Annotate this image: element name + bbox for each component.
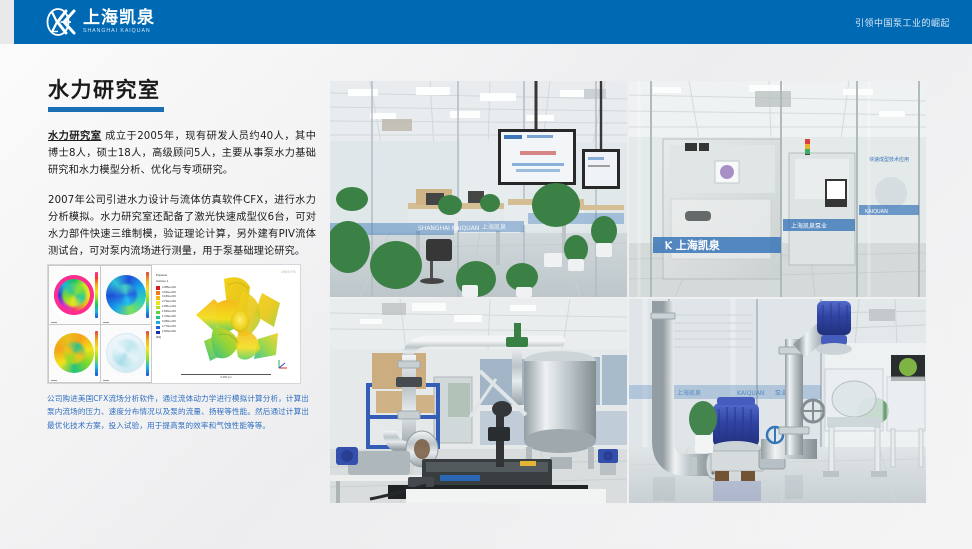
brand-logo[interactable]: 上海凯泉 SHANGHAI KAIQUAN	[44, 6, 155, 38]
paragraph-lead-term: 水力研究室	[48, 131, 101, 142]
cfd-contour-panel-1	[49, 266, 100, 324]
impeller-streamlines	[106, 333, 146, 373]
brand-name-en: SHANGHAI KAIQUAN	[83, 29, 159, 34]
axis-tick-4	[103, 380, 109, 381]
brand-name-cn: 上海凯泉	[83, 10, 155, 27]
scale-bar-line	[181, 374, 271, 375]
paragraph-intro: 水力研究室 成立于2005年，现有研发人员约40人，其中博士8人，硕士18人，高…	[48, 128, 316, 179]
colorbar-4	[146, 331, 149, 377]
title-underline-rule	[48, 107, 164, 112]
cfd-contour-panel-3	[49, 325, 100, 383]
impeller-contour-total-pressure	[54, 333, 94, 373]
header-left-edge	[0, 0, 14, 44]
cfd-analysis-figure: Pressure Contour 1 4.085e+004 3.634e+004…	[47, 264, 301, 384]
header-tagline: 引领中国泵工业的崛起	[855, 0, 950, 44]
cfd-contour-panel-2	[101, 266, 152, 324]
slide-canvas: 上海凯泉 SHANGHAI KAIQUAN 引领中国泵工业的崛起 水力研究室 水…	[0, 0, 972, 549]
axis-tick-2	[103, 322, 109, 323]
page-header: 上海凯泉 SHANGHAI KAIQUAN 引领中国泵工业的崛起	[0, 0, 972, 44]
impeller-contour-pressure	[54, 275, 94, 315]
cfd-contour-panels	[48, 265, 152, 383]
scale-label: 0.400 (m)	[220, 376, 231, 379]
photo-research-office: 凯泉 SHANGHAI KAIQUAN 上海凯泉	[330, 81, 627, 297]
cfd-legend-title: Pressure	[156, 273, 182, 278]
colorbar-2	[146, 272, 149, 318]
axis-triad-icon	[276, 357, 290, 371]
cfd-legend-unit: [Pa]	[156, 335, 182, 340]
paragraph-software: 2007年公司引进水力设计与流体仿真软件CFX，进行水力分析模拟。水力研究室还配…	[48, 192, 316, 261]
cfd-scale-bar: 0.400 (m)	[181, 374, 271, 379]
left-content-column: 水力研究室 水力研究室 成立于2005年，现有研发人员约40人，其中博士8人，硕…	[48, 78, 316, 272]
page-title: 水力研究室	[48, 78, 316, 103]
cfd-legend-subtitle: Contour 1	[156, 279, 182, 284]
impeller-contour-velocity	[106, 275, 146, 315]
brand-wordmark: 上海凯泉 SHANGHAI KAIQUAN	[83, 10, 155, 34]
photo-pump-test-loop: 上海凯泉KAIQUAN泵业	[629, 299, 926, 503]
cfd-contour-panel-4	[101, 325, 152, 383]
colorbar-3	[95, 331, 98, 377]
kaiquan-logo-mark-icon	[44, 7, 78, 37]
photo-piv-test-rig	[330, 299, 627, 503]
cfd-figure-caption: 公司购进美国CFX流场分析软件，通过流体动力学进行模拟计算分析，计算出泵内流场的…	[47, 392, 309, 432]
photo-rapid-prototyping-lab: 快速成型技术应用 Ⲕ 上海凯泉 上海凯泉泵业 KAIQUAN	[629, 81, 926, 297]
cfd-3d-impeller-view: Pressure Contour 1 4.085e+004 3.634e+004…	[152, 265, 300, 383]
colorbar-1	[95, 272, 98, 318]
cfd-legend: Pressure Contour 1 4.085e+004 3.634e+004…	[156, 273, 182, 341]
photo-gallery: 凯泉 SHANGHAI KAIQUAN 上海凯泉	[330, 81, 924, 501]
axis-tick-3	[51, 380, 57, 381]
axis-tick-1	[51, 322, 57, 323]
